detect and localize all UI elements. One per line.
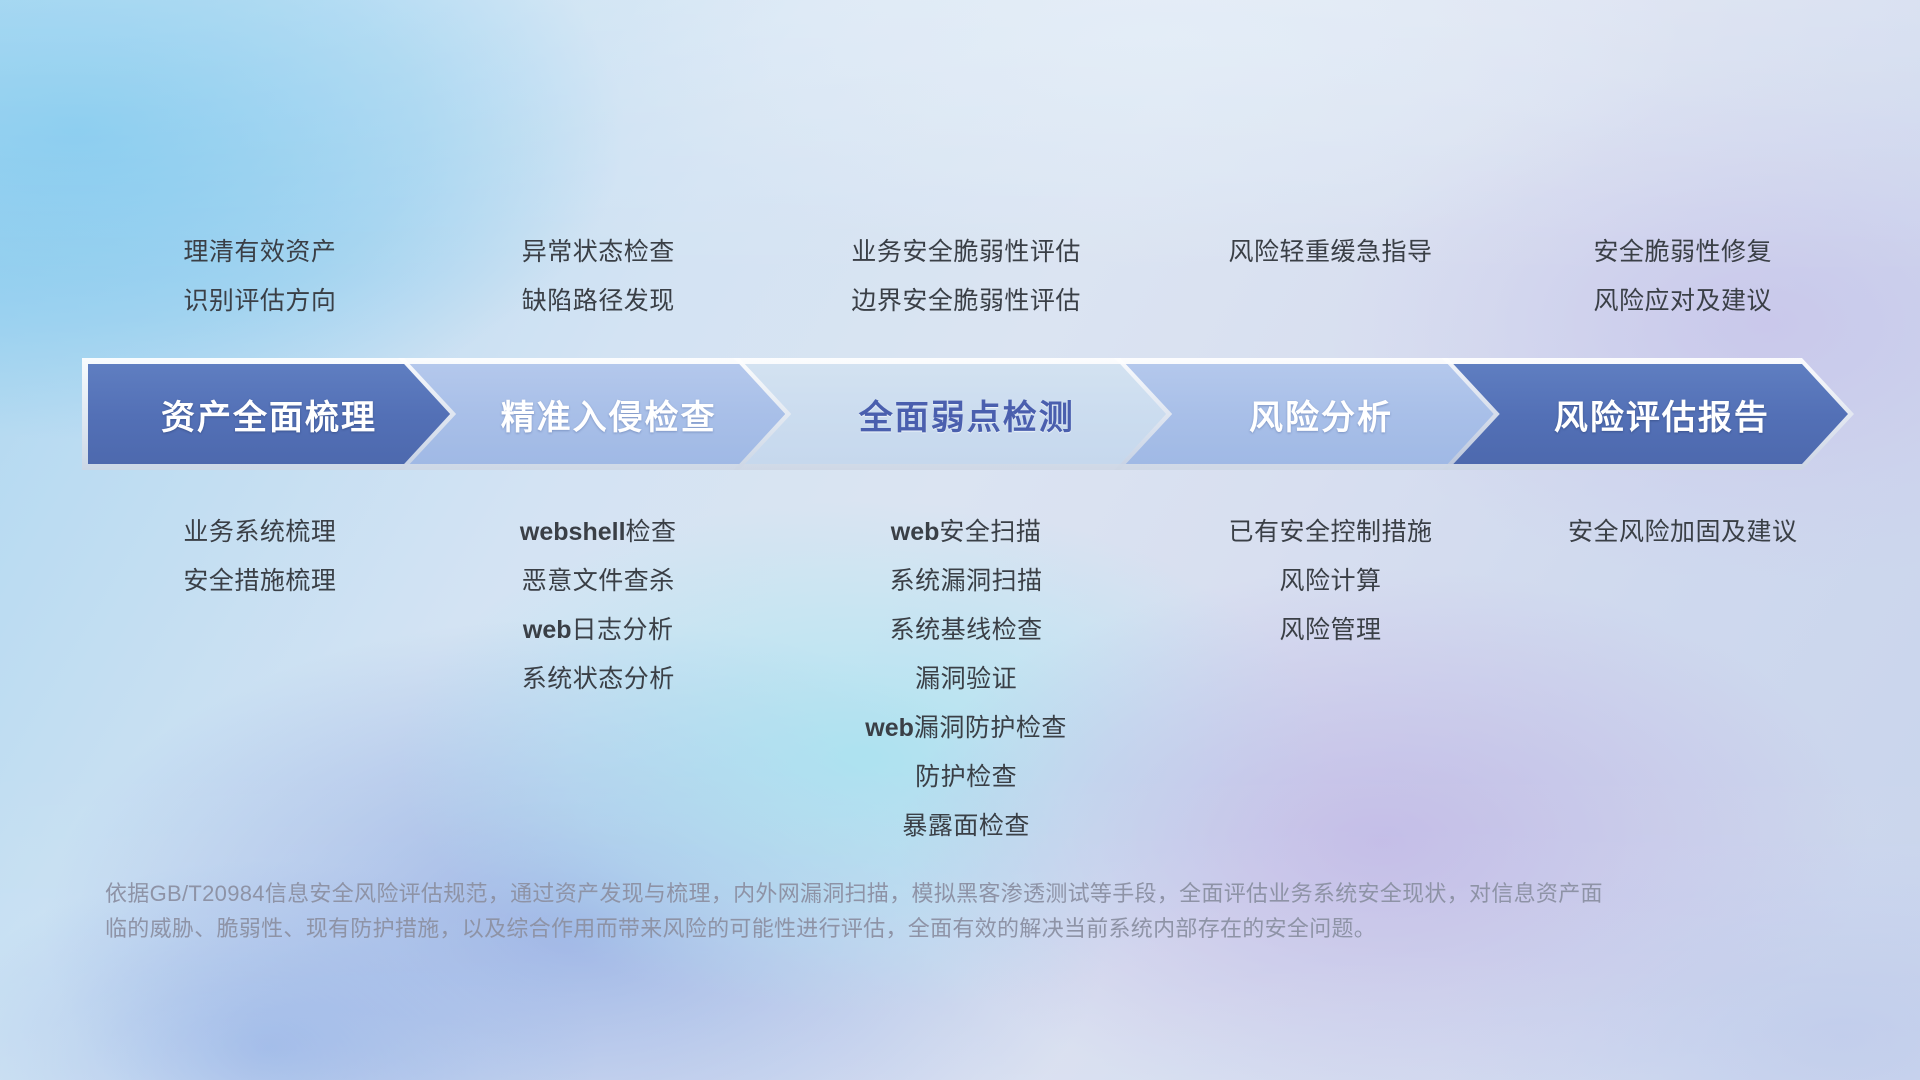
chevron-stage-weakness-detection[interactable]: 全面弱点检测 <box>739 364 1166 464</box>
bottom-captions-row: 业务系统梳理安全措施梳理webshell检查恶意文件查杀web日志分析系统状态分… <box>95 508 1865 851</box>
caption-latin-token: web <box>865 714 914 742</box>
stage-top-captions-risk-analysis: 风险轻重缓急指导 <box>1160 228 1500 277</box>
bottom-caption-item: 已有安全控制措施 <box>1160 508 1500 557</box>
chevron-label: 风险分析 <box>1221 390 1393 439</box>
slide-content: 理清有效资产识别评估方向异常状态检查缺陷路径发现业务安全脆弱性评估边界安全脆弱性… <box>0 0 1920 1080</box>
chevron-stage-intrusion-check[interactable]: 精准入侵检查 <box>404 364 785 464</box>
chevron-label: 全面弱点检测 <box>831 390 1075 439</box>
chevron-stage-asset-inventory[interactable]: 资产全面梳理 <box>88 364 450 464</box>
footnote-description: 依据GB/T20984信息安全风险评估规范，通过资产发现与梳理，内外网漏洞扫描，… <box>105 876 1625 946</box>
top-caption-item: 风险轻重缓急指导 <box>1160 228 1500 277</box>
stage-top-captions-weakness-detection: 业务安全脆弱性评估边界安全脆弱性评估 <box>772 228 1161 326</box>
chevron-stage-risk-analysis[interactable]: 风险分析 <box>1120 364 1494 464</box>
caption-latin-token: web <box>523 616 572 644</box>
stage-bottom-captions-risk-analysis: 已有安全控制措施风险计算风险管理 <box>1160 508 1500 655</box>
bottom-caption-item: webshell检查 <box>425 508 772 557</box>
slide-canvas: 理清有效资产识别评估方向异常状态检查缺陷路径发现业务安全脆弱性评估边界安全脆弱性… <box>0 0 1920 1080</box>
bottom-caption-item: 系统基线检查 <box>772 606 1161 655</box>
bottom-caption-item: 风险管理 <box>1160 606 1500 655</box>
caption-latin-token: webshell <box>520 518 626 546</box>
top-captions-row: 理清有效资产识别评估方向异常状态检查缺陷路径发现业务安全脆弱性评估边界安全脆弱性… <box>95 228 1865 326</box>
top-caption-item: 异常状态检查 <box>425 228 772 277</box>
bottom-caption-item: 系统状态分析 <box>425 655 772 704</box>
bottom-caption-item: web日志分析 <box>425 606 772 655</box>
top-caption-item: 风险应对及建议 <box>1501 277 1865 326</box>
bottom-caption-item: web漏洞防护检查 <box>772 704 1161 753</box>
bottom-caption-item: 安全风险加固及建议 <box>1501 508 1865 557</box>
bottom-caption-item: 系统漏洞扫描 <box>772 557 1161 606</box>
top-caption-item: 安全脆弱性修复 <box>1501 228 1865 277</box>
top-caption-item: 理清有效资产 <box>95 228 425 277</box>
stage-top-captions-asset-inventory: 理清有效资产识别评估方向 <box>95 228 425 326</box>
chevron-stage-risk-report[interactable]: 风险评估报告 <box>1448 364 1848 464</box>
top-caption-item: 识别评估方向 <box>95 277 425 326</box>
top-caption-item: 边界安全脆弱性评估 <box>772 277 1161 326</box>
stage-bottom-captions-risk-report: 安全风险加固及建议 <box>1501 508 1865 557</box>
process-chevron-banner: 资产全面梳理精准入侵检查全面弱点检测风险分析风险评估报告 <box>88 364 1848 464</box>
stage-bottom-captions-asset-inventory: 业务系统梳理安全措施梳理 <box>95 508 425 606</box>
bottom-caption-item: 恶意文件查杀 <box>425 557 772 606</box>
stage-top-captions-intrusion-check: 异常状态检查缺陷路径发现 <box>425 228 772 326</box>
bottom-caption-item: 风险计算 <box>1160 557 1500 606</box>
chevron-label: 风险评估报告 <box>1526 390 1770 439</box>
chevron-label: 精准入侵检查 <box>473 390 717 439</box>
caption-latin-token: web <box>891 518 940 546</box>
bottom-caption-item: 防护检查 <box>772 753 1161 802</box>
stage-bottom-captions-intrusion-check: webshell检查恶意文件查杀web日志分析系统状态分析 <box>425 508 772 704</box>
top-caption-item: 业务安全脆弱性评估 <box>772 228 1161 277</box>
chevron-label: 资产全面梳理 <box>161 390 377 439</box>
stage-top-captions-risk-report: 安全脆弱性修复风险应对及建议 <box>1501 228 1865 326</box>
stage-bottom-captions-weakness-detection: web安全扫描系统漏洞扫描系统基线检查漏洞验证web漏洞防护检查防护检查暴露面检… <box>772 508 1161 851</box>
top-caption-item: 缺陷路径发现 <box>425 277 772 326</box>
bottom-caption-item: 漏洞验证 <box>772 655 1161 704</box>
bottom-caption-item: web安全扫描 <box>772 508 1161 557</box>
bottom-caption-item: 暴露面检查 <box>772 802 1161 851</box>
bottom-caption-item: 安全措施梳理 <box>95 557 425 606</box>
bottom-caption-item: 业务系统梳理 <box>95 508 425 557</box>
